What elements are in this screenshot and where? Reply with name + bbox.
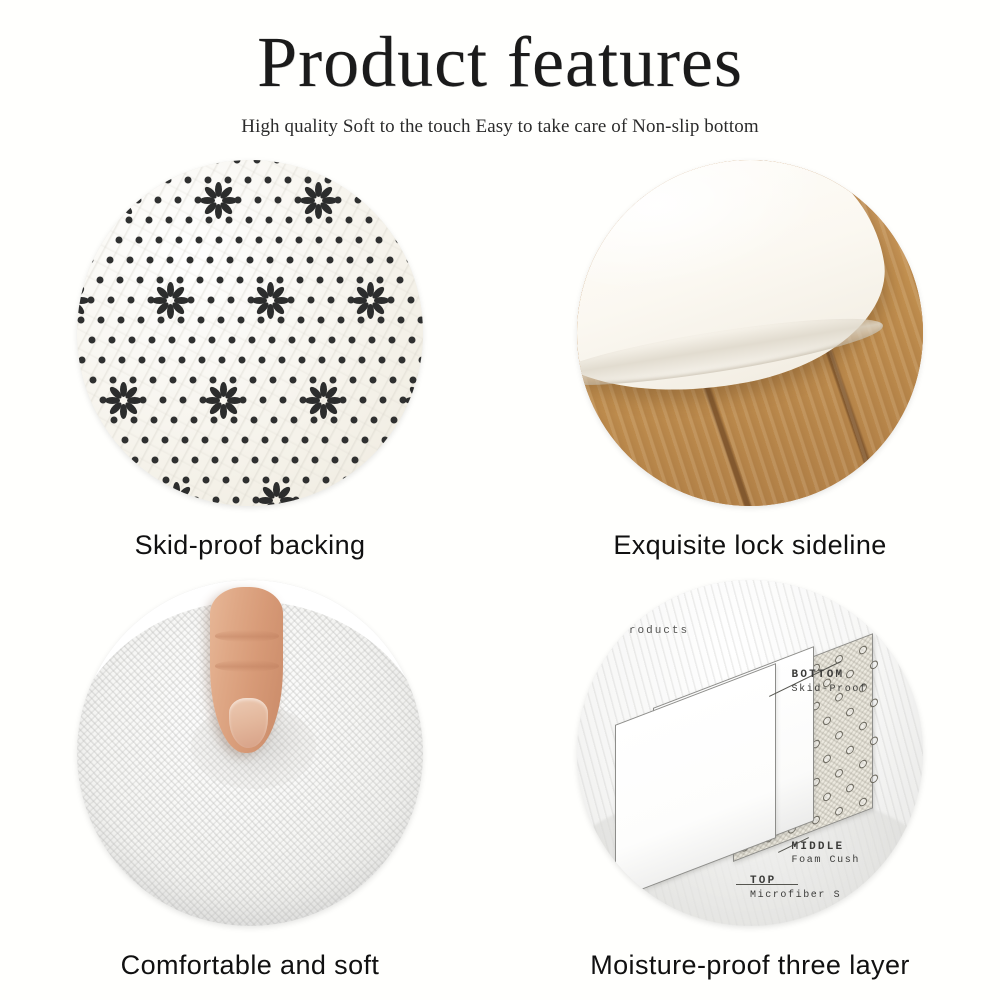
skid-proof-dot — [835, 729, 843, 740]
skid-proof-dot — [846, 706, 854, 717]
mat-highlight — [577, 160, 840, 307]
skid-proof-dot — [858, 758, 866, 769]
finger-crease-lower — [215, 660, 279, 672]
layer-callout-middle: MIDDLE Foam Cush — [792, 840, 860, 868]
feature-cell-comfortable-and-soft: Comfortable and soft — [0, 580, 500, 1000]
feature-image-comfortable-and-soft — [77, 580, 423, 926]
feature-caption-comfortable-and-soft: Comfortable and soft — [121, 950, 380, 981]
layer-diagram-scene: roducts BOTTOM Skid-Proof MIDDLE Foam Cu… — [577, 580, 923, 926]
feature-image-skid-proof-backing — [77, 160, 423, 506]
finger-crease-upper — [215, 630, 279, 642]
skid-proof-dot — [858, 644, 866, 655]
layer-callout-bottom: BOTTOM Skid-Proof — [792, 668, 868, 696]
skid-proof-dot — [869, 773, 877, 784]
wood-floor-scene — [577, 160, 923, 506]
feature-image-moisture-proof-three-layer: roducts BOTTOM Skid-Proof MIDDLE Foam Cu… — [577, 580, 923, 926]
fingertip — [229, 698, 268, 748]
feature-caption-moisture-proof-three-layer: Moisture-proof three layer — [590, 950, 910, 981]
skid-proof-dot — [822, 715, 830, 726]
soft-mat-scene — [77, 580, 423, 926]
feature-caption-skid-proof-backing: Skid-proof backing — [135, 530, 366, 561]
feature-cell-exquisite-lock-sideline: Exquisite lock sideline — [500, 160, 1000, 580]
feature-image-exquisite-lock-sideline — [577, 160, 923, 506]
skid-proof-dot — [835, 806, 843, 817]
layer-callout-middle-title: MIDDLE — [792, 840, 860, 855]
layer-callout-middle-sublabel: Foam Cush — [792, 854, 860, 868]
layer-callout-top-sublabel: Microfiber S — [750, 889, 841, 903]
layer-callout-top: TOP Microfiber S — [750, 874, 841, 902]
layer-callout-bottom-sublabel: Skid-Proof — [792, 683, 868, 697]
skid-proof-dot — [822, 791, 830, 802]
layer-callout-bottom-title: BOTTOM — [792, 668, 868, 683]
feature-caption-exquisite-lock-sideline: Exquisite lock sideline — [613, 530, 886, 561]
page-subtitle: High quality Soft to the touch Easy to t… — [0, 116, 1000, 138]
page-header: Product features High quality Soft to th… — [0, 0, 1000, 138]
skid-proof-dot — [846, 782, 854, 793]
feature-cell-moisture-proof-three-layer: roducts BOTTOM Skid-Proof MIDDLE Foam Cu… — [500, 580, 1000, 1000]
feature-grid: Skid-proof backing Exquisite lock sideli… — [0, 160, 1000, 1000]
finger — [210, 587, 283, 753]
feature-cell-skid-proof-backing: Skid-proof backing — [0, 160, 500, 580]
layer-callout-top-title: TOP — [750, 874, 841, 889]
diagram-wordmark: roducts — [629, 625, 689, 637]
skid-proof-dot — [869, 697, 877, 708]
skid-proof-dot-pattern — [77, 160, 423, 506]
skid-proof-dot — [869, 735, 877, 746]
page-title: Product features — [0, 26, 1000, 98]
skid-proof-dot — [835, 768, 843, 779]
skid-proof-dot — [869, 659, 877, 670]
skid-proof-dot — [846, 744, 854, 755]
skid-proof-dot — [822, 753, 830, 764]
skid-proof-dot — [858, 797, 866, 808]
skid-proof-dot — [858, 720, 866, 731]
